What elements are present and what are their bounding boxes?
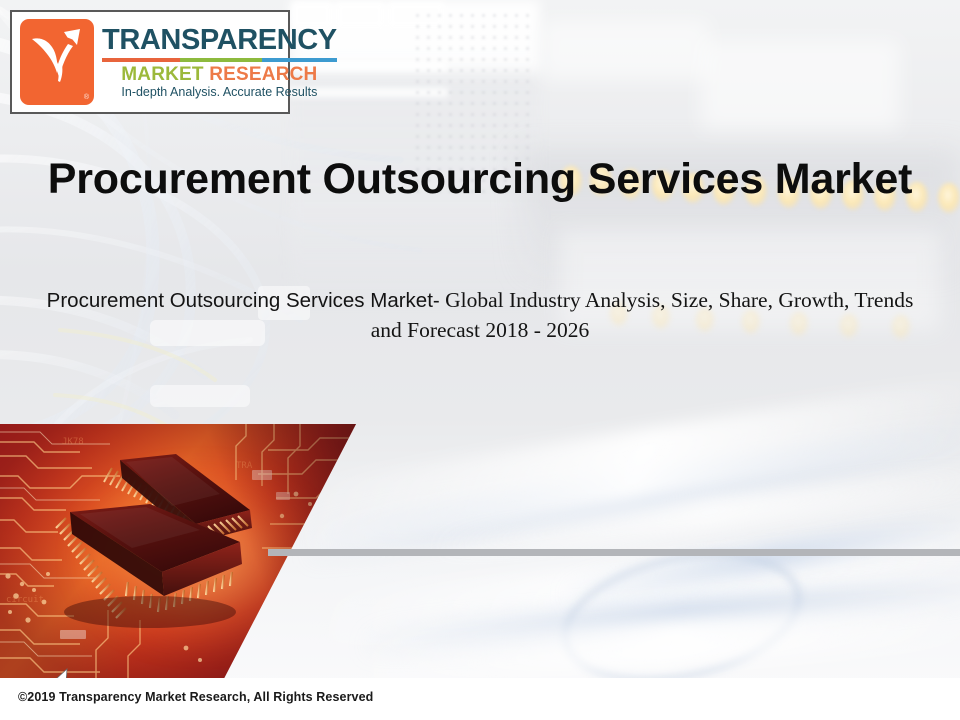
subtitle-lead: Procurement Outsourcing Services Market-	[47, 289, 440, 312]
slide-subtitle: Procurement Outsourcing Services Market-…	[35, 285, 925, 346]
company-logo[interactable]: ® TRANSPARENCY MARKET RESEARCH In-depth …	[10, 10, 290, 114]
subtitle-rest: Global Industry Analysis, Size, Share, G…	[371, 288, 914, 343]
registered-trademark-symbol: ®	[84, 94, 89, 101]
horizontal-divider	[268, 549, 960, 556]
background-soft-highlight	[700, 40, 900, 130]
logo-word-market: MARKET	[121, 64, 203, 85]
logo-tagline: In-depth Analysis. Accurate Results	[102, 86, 337, 100]
logo-word-research: RESEARCH	[209, 64, 317, 85]
presentation-slide: ® TRANSPARENCY MARKET RESEARCH In-depth …	[0, 0, 960, 720]
logo-subtitle: MARKET RESEARCH	[102, 65, 337, 85]
logo-tricolor-rule	[102, 58, 337, 62]
footer-bar: ©2019 Transparency Market Research, All …	[0, 678, 960, 720]
checkmark-arrow-growth-icon	[28, 25, 86, 87]
background-soft-highlight	[540, 20, 710, 80]
logo-company-name: TRANSPARENCY	[102, 26, 337, 55]
slide-title: Procurement Outsourcing Services Market	[40, 153, 920, 205]
logo-mark-tile: ®	[20, 19, 94, 105]
logo-wordmark: TRANSPARENCY MARKET RESEARCH In-depth An…	[94, 12, 343, 112]
mouse-cursor-icon	[55, 668, 69, 678]
copyright-notice: ©2019 Transparency Market Research, All …	[18, 690, 373, 704]
